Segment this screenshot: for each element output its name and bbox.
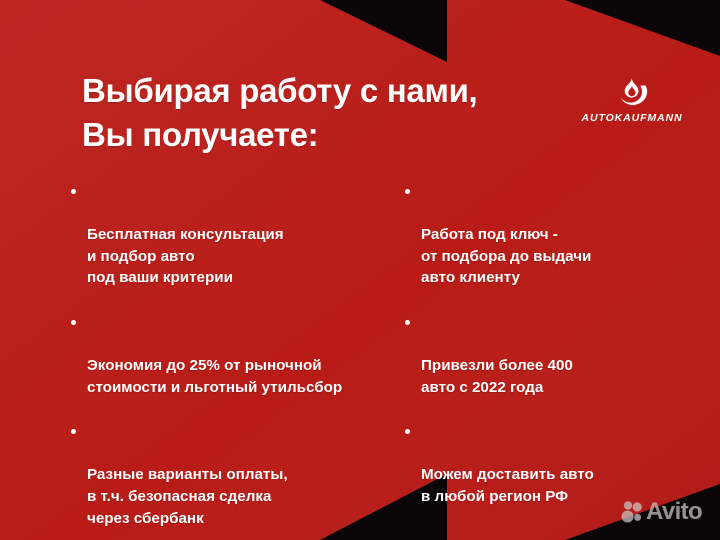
benefits-left-column: Бесплатная консультация и подбор авто по… [70,181,400,540]
benefit-text: Работа под ключ - от подбора до выдачи а… [421,226,591,286]
brand-logo: AUTOKAUFMANN [578,76,686,124]
bullet-dot-icon [71,189,76,194]
benefit-item: Привезли более 400 авто с 2022 года [404,312,704,398]
page-title: Выбирая работу с нами, Вы получаете: [82,69,582,157]
brand-wordmark: AUTOKAUFMANN [578,112,686,124]
benefit-item: Бесплатная консультация и подбор авто по… [70,181,400,289]
benefit-item: Экономия до 25% от рыночной стоимости и … [70,312,400,398]
bullet-dot-icon [405,189,410,194]
benefits-right-column: Работа под ключ - от подбора до выдачи а… [404,181,704,508]
benefit-text: Привезли более 400 авто с 2022 года [421,357,573,396]
avito-wordmark: Avito [646,500,702,524]
benefit-item: Работа под ключ - от подбора до выдачи а… [404,181,704,289]
benefit-text: Бесплатная консультация и подбор авто по… [87,226,284,286]
bullet-dot-icon [71,429,76,434]
benefit-text: Разные варианты оплаты, в т.ч. безопасна… [87,466,288,526]
benefit-text: Можем доставить авто в любой регион РФ [421,466,594,505]
bullet-dot-icon [71,320,76,325]
promo-banner: Выбирая работу с нами, Вы получаете: AUT… [0,0,720,540]
bullet-dot-icon [405,429,410,434]
avito-dots-icon [621,500,643,524]
benefit-text: Экономия до 25% от рыночной стоимости и … [87,357,342,396]
avito-watermark: Avito [621,500,702,524]
bullet-dot-icon [405,320,410,325]
flame-swoosh-icon [615,76,649,108]
benefit-item: Можем доставить авто в любой регион РФ [404,421,704,507]
benefit-item: Разные варианты оплаты, в т.ч. безопасна… [70,421,400,529]
